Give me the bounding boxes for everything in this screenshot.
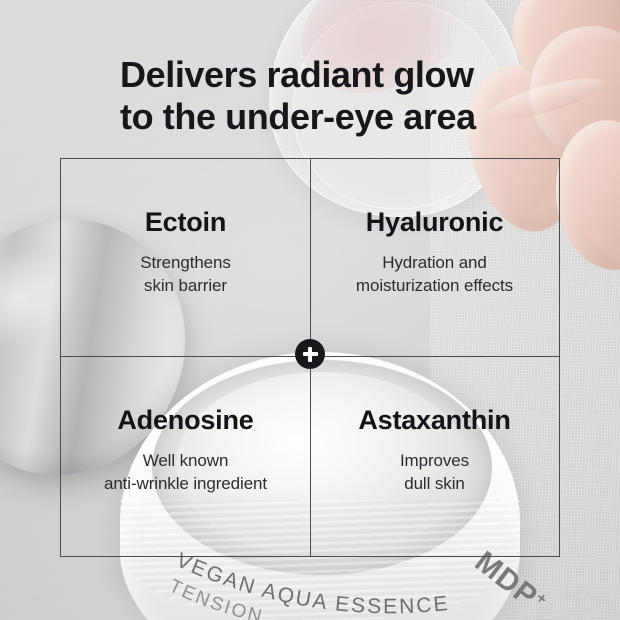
ingredient-description: Hydration and moisturization effects: [356, 252, 513, 298]
ingredient-title: Ectoin: [145, 207, 226, 238]
ingredient-description: Improves dull skin: [400, 450, 469, 496]
ingredient-cell-astaxanthin: Astaxanthin Improves dull skin: [310, 357, 559, 554]
ingredient-description: Well known anti-wrinkle ingredient: [104, 450, 267, 496]
ingredient-cell-adenosine: Adenosine Well known anti-wrinkle ingred…: [61, 357, 310, 554]
plus-icon: [295, 339, 325, 369]
ingredient-cell-hyaluronic: Hyaluronic Hydration and moisturization …: [310, 159, 559, 356]
ingredient-title: Adenosine: [117, 405, 253, 436]
ingredient-title: Hyaluronic: [366, 207, 504, 238]
promo-image-root: VEGAN AQUA ESSENCE TENSION MDP+ Delivers…: [0, 0, 620, 620]
plus-icon-vertical-bar: [308, 347, 311, 362]
ingredient-cell-ectoin: Ectoin Strengthens skin barrier: [61, 159, 310, 356]
page-title: Delivers radiant glow to the under-eye a…: [120, 54, 550, 138]
ingredient-description: Strengthens skin barrier: [140, 252, 231, 298]
ingredient-title: Astaxanthin: [358, 405, 510, 436]
